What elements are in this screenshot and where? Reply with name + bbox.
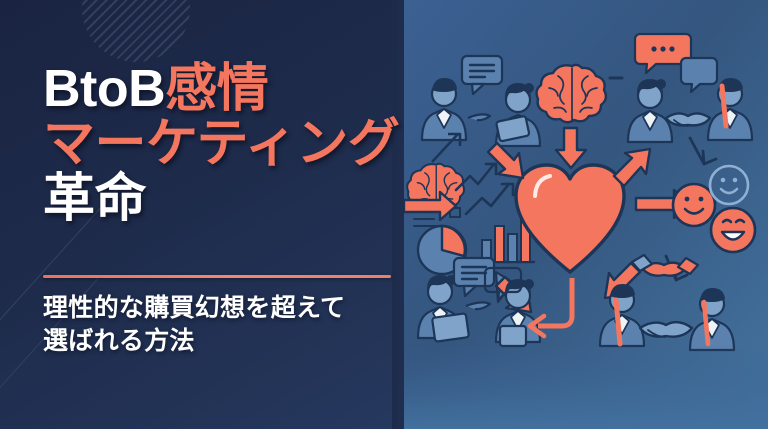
subtitle: 理性的な購買幻想を超えて 選ばれる方法 bbox=[43, 292, 423, 359]
subtitle-line-1: 理性的な購買幻想を超えて bbox=[43, 292, 423, 325]
illustration-panel bbox=[404, 0, 768, 429]
coral-divider bbox=[43, 275, 391, 278]
title-line-3: 革命 bbox=[43, 174, 413, 225]
title-seg-kakumei: 革命 bbox=[43, 170, 146, 228]
headline-block: BtoB感情 マーケティング 革命 bbox=[43, 64, 413, 225]
title-line-1: BtoB感情 bbox=[43, 64, 413, 115]
striped-circle-decoration bbox=[82, 0, 190, 62]
title-seg-kanjou: 感情 bbox=[165, 60, 268, 118]
page-title: BtoB感情 マーケティング 革命 bbox=[43, 64, 413, 225]
title-seg-marketing: マーケティング bbox=[43, 115, 399, 173]
group-brain-top bbox=[537, 65, 606, 122]
title-card: BtoB感情 マーケティング 革命 理性的な購買幻想を超えて 選ばれる方法 bbox=[0, 0, 768, 429]
subtitle-line-2: 選ばれる方法 bbox=[43, 325, 423, 358]
title-seg-btob: BtoB bbox=[43, 60, 165, 118]
title-line-2: マーケティング bbox=[43, 119, 413, 170]
